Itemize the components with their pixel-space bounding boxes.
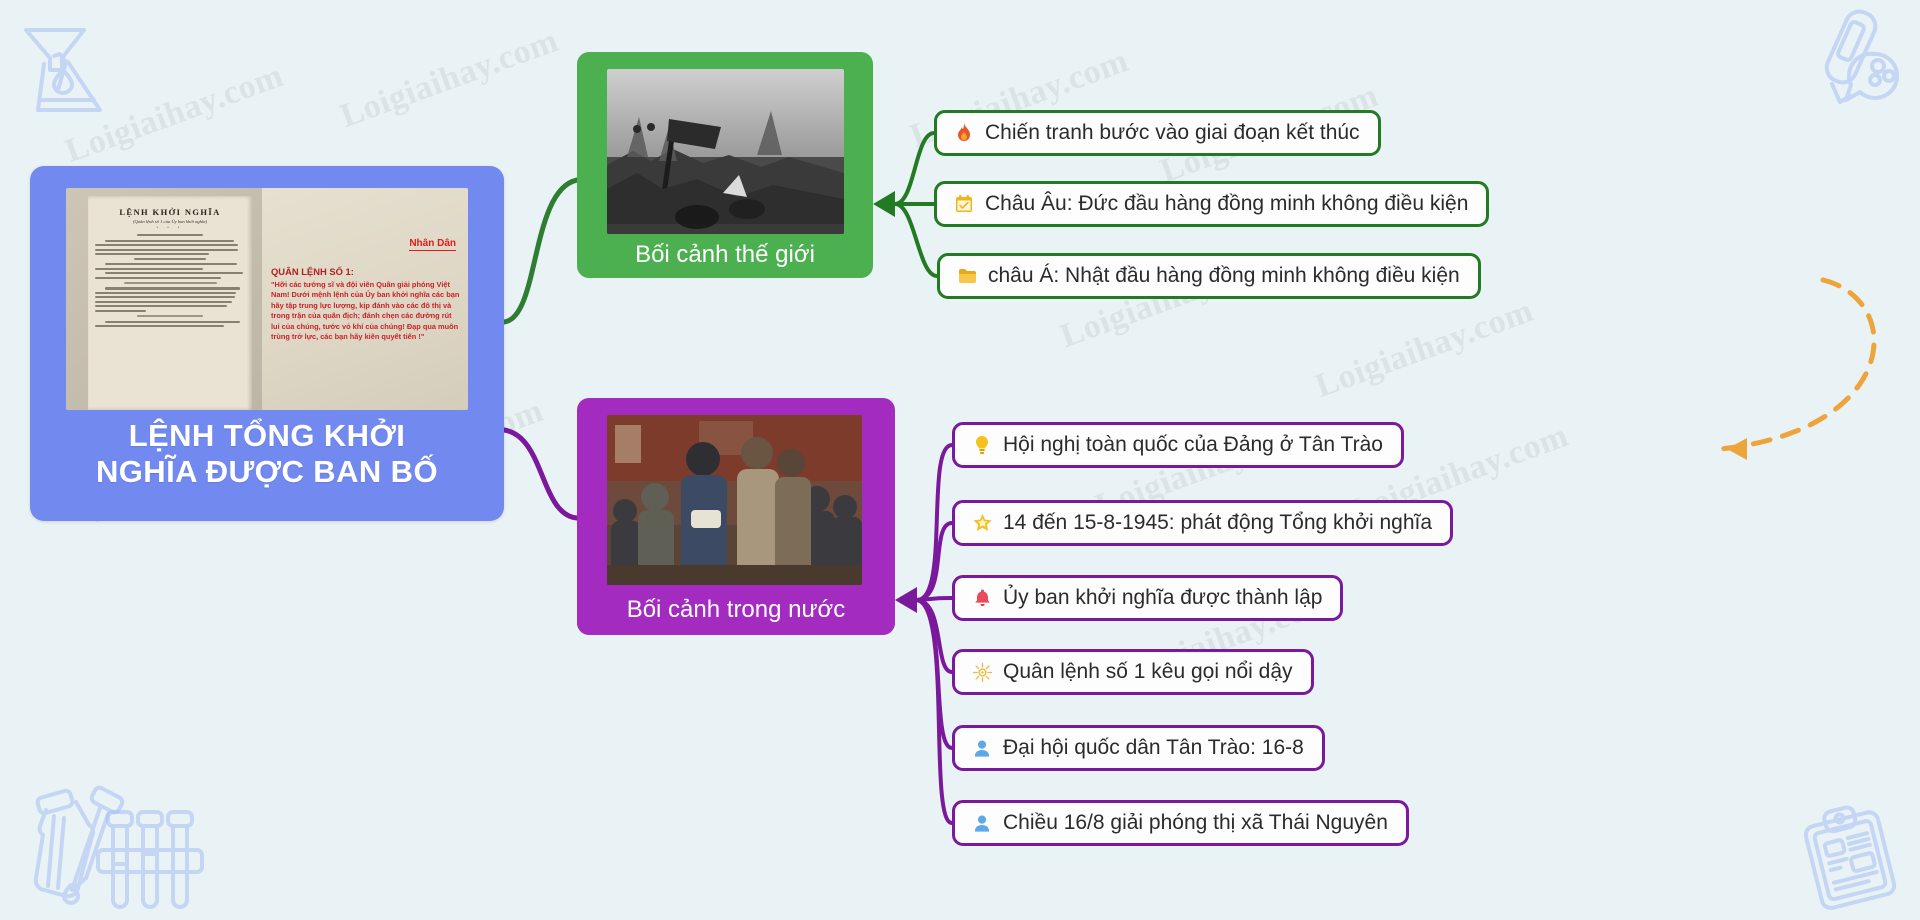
leaf-chip-world-1[interactable]: Chiến tranh bước vào giai đoạn kết thúc bbox=[934, 110, 1381, 156]
dropper-bottle-icon bbox=[18, 780, 148, 920]
document-heading: LỆNH KHỞI NGHĨA bbox=[88, 207, 252, 217]
leaf-text: Đại hội quốc dân Tân Trào: 16-8 bbox=[997, 736, 1304, 760]
test-tubes-icon bbox=[96, 806, 206, 920]
person-icon bbox=[967, 740, 997, 757]
leaf-chip-world-2[interactable]: Châu Âu: Đức đầu hàng đồng minh không đi… bbox=[934, 181, 1489, 227]
quan-lenh-panel: Nhân Dân QUÂN LỆNH SỐ 1: "Hỡi các tướng … bbox=[262, 188, 468, 410]
document-body-lines bbox=[95, 234, 245, 327]
folder-icon bbox=[952, 268, 982, 284]
funnel-flask-icon bbox=[8, 4, 120, 116]
watermark: Loigiaihay.com bbox=[60, 57, 288, 171]
branch-image-domestic bbox=[607, 415, 862, 585]
leaf-text: Châu Âu: Đức đầu hàng đồng minh không đi… bbox=[979, 192, 1468, 216]
leaf-text: Ủy ban khởi nghĩa được thành lập bbox=[997, 586, 1322, 610]
bell-icon bbox=[967, 589, 997, 607]
leaf-text: Chiều 16/8 giải phóng thị xã Thái Nguyên bbox=[997, 811, 1388, 835]
sparkle-icon bbox=[967, 663, 997, 682]
lenh-khoi-nghia-document: LỆNH KHỞI NGHĨA (Quân lệnh số 1 của Ủy b… bbox=[66, 188, 262, 410]
branch-node-domestic-context[interactable]: Bối cảnh trong nước bbox=[577, 398, 895, 635]
flame-icon bbox=[949, 123, 979, 143]
central-node-image: LỆNH KHỞI NGHĨA (Quân lệnh số 1 của Ủy b… bbox=[66, 188, 468, 410]
branch-label-domestic: Bối cảnh trong nước bbox=[577, 595, 895, 625]
central-node-title: LỆNH TỔNG KHỞI NGHĨA ĐƯỢC BAN BỐ bbox=[30, 418, 504, 490]
leaf-chip-domestic-2[interactable]: 14 đến 15-8-1945: phát động Tổng khởi ng… bbox=[952, 500, 1453, 546]
person-icon bbox=[967, 815, 997, 832]
leaf-text: Quân lệnh số 1 kêu gọi nổi dậy bbox=[997, 660, 1293, 684]
leaf-chip-domestic-3[interactable]: Ủy ban khởi nghĩa được thành lập bbox=[952, 575, 1343, 621]
branch-node-world-context[interactable]: Bối cảnh thế giới bbox=[577, 52, 873, 278]
star-badge-icon bbox=[967, 514, 997, 533]
branch-label-world: Bối cảnh thế giới bbox=[577, 240, 873, 270]
thermometer-icon bbox=[1796, 2, 1914, 116]
mindmap-canvas: Loigiaihay.com Loigiaihay.com Loigiaihay… bbox=[0, 0, 1920, 920]
quan-lenh-title: QUÂN LỆNH SỐ 1: bbox=[271, 266, 354, 277]
nhan-dan-masthead: Nhân Dân bbox=[409, 238, 456, 251]
leaf-chip-domestic-4[interactable]: Quân lệnh số 1 kêu gọi nổi dậy bbox=[952, 649, 1314, 695]
clipboard-icon bbox=[1794, 800, 1906, 912]
lightbulb-icon bbox=[967, 436, 997, 455]
leaf-text: 14 đến 15-8-1945: phát động Tổng khởi ng… bbox=[997, 511, 1432, 535]
leaf-chip-domestic-5[interactable]: Đại hội quốc dân Tân Trào: 16-8 bbox=[952, 725, 1325, 771]
calendar-check-icon bbox=[949, 195, 979, 213]
watermark: Loigiaihay.com bbox=[1310, 292, 1538, 406]
central-node[interactable]: LỆNH KHỞI NGHĨA (Quân lệnh số 1 của Ủy b… bbox=[30, 166, 504, 521]
central-title-line-1: LỆNH TỔNG KHỞI bbox=[30, 418, 504, 454]
central-title-line-2: NGHĨA ĐƯỢC BAN BỐ bbox=[30, 454, 504, 490]
watermark: Loigiaihay.com bbox=[335, 22, 563, 136]
document-subheading: (Quân lệnh số 1 của Ủy ban khởi nghĩa) bbox=[88, 219, 252, 224]
leaf-text: châu Á: Nhật đầu hàng đồng minh không đi… bbox=[982, 264, 1460, 288]
document-stars: * * * bbox=[88, 225, 252, 230]
leaf-chip-domestic-1[interactable]: Hội nghị toàn quốc của Đảng ở Tân Trào bbox=[952, 422, 1404, 468]
leaf-text: Hội nghị toàn quốc của Đảng ở Tân Trào bbox=[997, 433, 1383, 457]
leaf-chip-domestic-6[interactable]: Chiều 16/8 giải phóng thị xã Thái Nguyên bbox=[952, 800, 1409, 846]
leaf-text: Chiến tranh bước vào giai đoạn kết thúc bbox=[979, 121, 1360, 145]
branch-image-world bbox=[607, 69, 844, 234]
leaf-chip-world-3[interactable]: châu Á: Nhật đầu hàng đồng minh không đi… bbox=[937, 253, 1481, 299]
quan-lenh-body: "Hỡi các tướng sĩ và đội viên Quân giải … bbox=[271, 280, 462, 342]
